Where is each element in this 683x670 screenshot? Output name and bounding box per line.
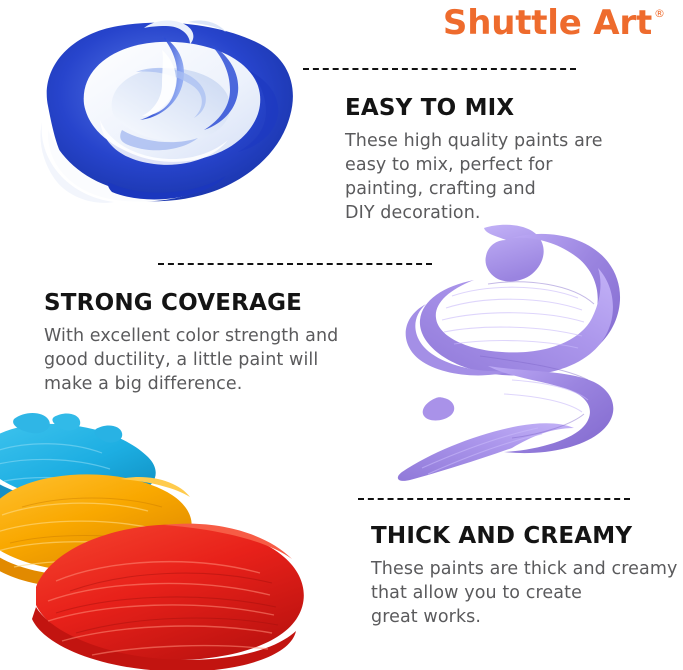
feature-heading-thick-and-creamy: THICK AND CREAMY bbox=[371, 523, 683, 549]
body-line: These high quality paints are bbox=[345, 129, 675, 153]
paint-image-purple-stroke bbox=[392, 222, 642, 487]
brand-name: Shuttle Art bbox=[443, 6, 652, 40]
body-line: that allow you to create bbox=[371, 581, 683, 605]
dashed-divider-1 bbox=[303, 68, 576, 70]
body-line: With excellent color strength and bbox=[44, 324, 374, 348]
body-line: painting, crafting and bbox=[345, 177, 675, 201]
feature-heading-easy-to-mix: EASY TO MIX bbox=[345, 95, 675, 121]
feature-easy-to-mix: EASY TO MIX These high quality paints ar… bbox=[345, 95, 675, 226]
body-line: easy to mix, perfect for bbox=[345, 153, 675, 177]
feature-body-thick-and-creamy: These paints are thick and creamy that a… bbox=[371, 557, 683, 629]
dashed-divider-3 bbox=[358, 498, 630, 500]
feature-thick-and-creamy: THICK AND CREAMY These paints are thick … bbox=[371, 523, 683, 629]
paint-image-cyan-yellow-red bbox=[0, 415, 337, 670]
dashed-divider-2 bbox=[158, 263, 432, 265]
paint-image-blue-white-swirl bbox=[12, 10, 302, 215]
body-line: good ductility, a little paint will bbox=[44, 348, 374, 372]
brand-logo: Shuttle Art ® bbox=[443, 6, 665, 40]
body-line: great works. bbox=[371, 605, 683, 629]
feature-body-easy-to-mix: These high quality paints are easy to mi… bbox=[345, 129, 675, 226]
feature-heading-strong-coverage: STRONG COVERAGE bbox=[44, 290, 374, 316]
feature-body-strong-coverage: With excellent color strength and good d… bbox=[44, 324, 374, 396]
infographic-canvas: Shuttle Art ® bbox=[0, 0, 683, 668]
feature-strong-coverage: STRONG COVERAGE With excellent color str… bbox=[44, 290, 374, 396]
registered-trademark-icon: ® bbox=[654, 8, 665, 19]
body-line: These paints are thick and creamy bbox=[371, 557, 683, 581]
body-line: DIY decoration. bbox=[345, 201, 675, 225]
body-line: make a big difference. bbox=[44, 372, 374, 396]
